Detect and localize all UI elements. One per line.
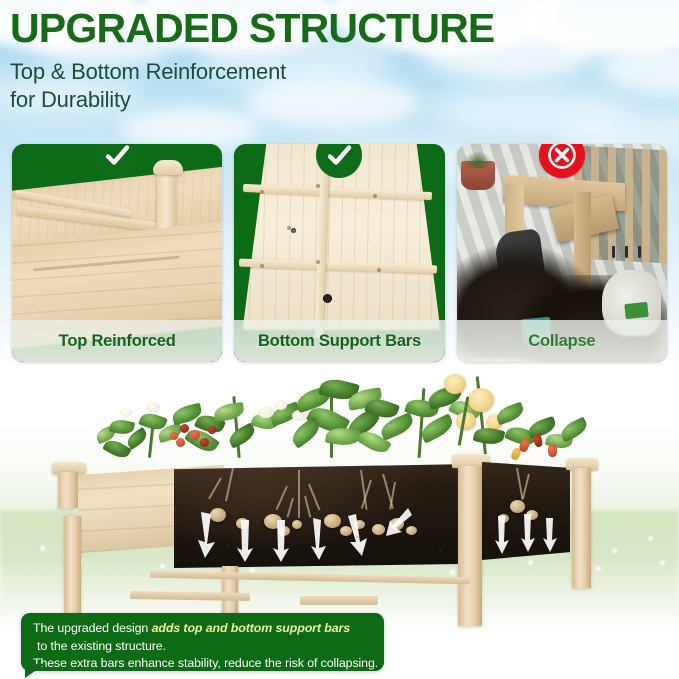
soil-cutaway-right: [482, 462, 570, 560]
panel-3-caption-text: Collapse: [528, 332, 595, 351]
product-marketing-image: UPGRADED STRUCTURE Top & Bottom Reinforc…: [0, 0, 679, 679]
lower-rail-right: [300, 596, 378, 605]
callout-highlight: adds top and bottom support bars: [152, 621, 351, 635]
header-subtitle: Top & Bottom Reinforcement for Durabilit…: [10, 58, 679, 114]
panel-2-caption-text: Bottom Support Bars: [258, 332, 421, 351]
post-right: [458, 466, 482, 626]
product-photo: [0, 366, 679, 646]
panel-collapse[interactable]: Collapse: [457, 144, 667, 362]
soil-cutaway: [174, 464, 470, 568]
callout-line-1: The upgraded design adds top and bottom …: [33, 620, 374, 638]
panel-3-caption: Collapse: [457, 320, 667, 362]
callout-box: The upgraded design adds top and bottom …: [21, 613, 384, 671]
callout-line-3: These extra bars enhance stability, redu…: [33, 655, 374, 673]
panel-2-caption: Bottom Support Bars: [234, 320, 444, 362]
lower-rail-left: [130, 591, 250, 601]
panel-top-reinforced[interactable]: Top Reinforced: [12, 144, 222, 362]
panel-1-caption: Top Reinforced: [12, 320, 222, 362]
callout-line-1-prefix: The upgraded design: [33, 621, 152, 635]
header: UPGRADED STRUCTURE Top & Bottom Reinforc…: [10, 8, 679, 114]
feature-panels: Top Reinforced: [12, 144, 667, 362]
panel-bottom-support-bars[interactable]: Bottom Support Bars: [234, 144, 444, 362]
post-left: [58, 472, 78, 508]
subtitle-line-1: Top & Bottom Reinforcement: [10, 58, 679, 86]
post-far-right: [572, 468, 591, 588]
page-title: UPGRADED STRUCTURE: [10, 8, 679, 49]
subtitle-line-2: for Durability: [10, 86, 679, 114]
bed-bottom-edge: [150, 571, 470, 585]
panel-1-caption-text: Top Reinforced: [59, 332, 176, 351]
callout-line-2: to the existing structure.: [33, 638, 374, 656]
